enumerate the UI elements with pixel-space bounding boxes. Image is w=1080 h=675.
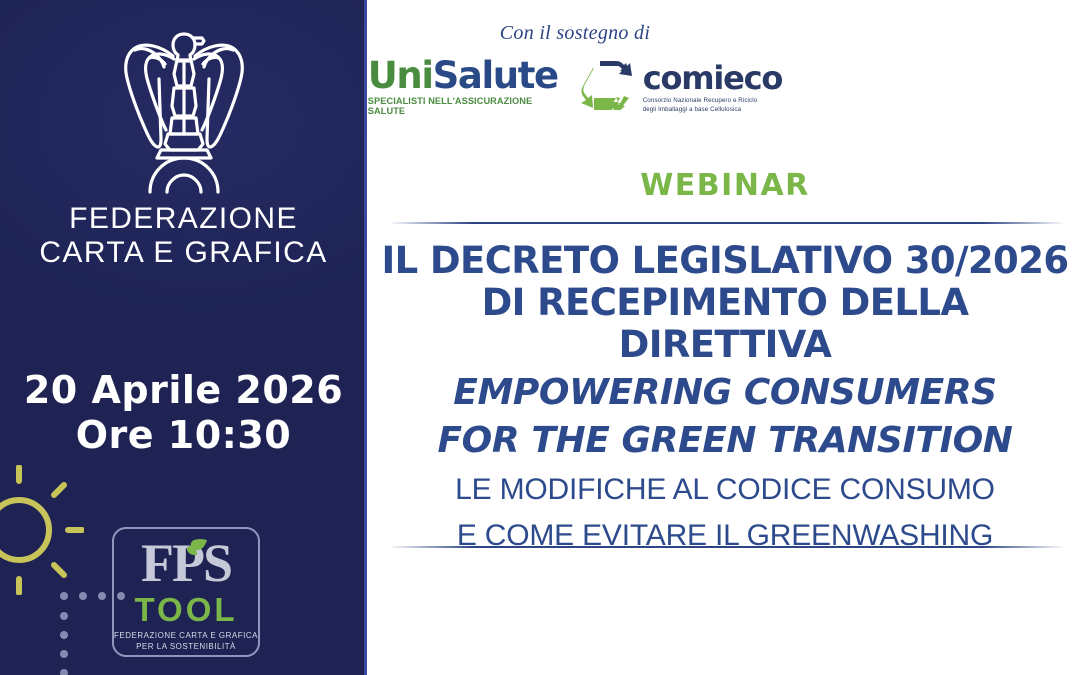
emphasis-line2: FOR THE GREEN TRANSITION [370,420,1080,462]
left-brand-panel: FEDERAZIONE CARTA E GRAFICA 20 Aprile 20… [0,0,367,675]
title-block: IL DECRETO LEGISLATIVO 30/2026 DI RECEPI… [370,240,1080,554]
subtitle-line1: LE MODIFICHE AL CODICE CONSUMO [370,472,1080,508]
unisalute-word-part1: Uni [368,54,433,97]
divider-bottom [392,546,1062,548]
fps-tool-tagline: FEDERAZIONE CARTA E GRAFICA PER LA SOSTE… [114,631,258,653]
eagle-crest-icon [95,26,273,196]
subtitle-line2: E COME EVITARE IL GREENWASHING [370,518,1080,554]
federation-crest: FEDERAZIONE CARTA E GRAFICA [0,26,367,269]
comieco-subtitle-line1: Consorzio Nazionale Recupero e Riciclo [643,96,783,105]
comieco-subtitle: Consorzio Nazionale Recupero e Riciclo d… [643,96,783,115]
fps-tool-tagline-line1: FEDERAZIONE CARTA E GRAFICA [114,631,258,642]
event-time: Ore 10:30 [0,413,367,458]
webinar-badge: WEBINAR [370,168,1080,203]
fps-tool-tagline-line2: PER LA SOSTENIBILITÀ [114,642,258,653]
title-line2: DI RECEPIMENTO DELLA DIRETTIVA [370,282,1080,366]
unisalute-logo: UniSalute SPECIALISTI NELL'ASSICURAZIONE… [368,57,558,116]
leaf-icon [178,538,208,565]
dotted-line-icon-vertical [60,612,68,675]
comieco-text: comieco Consorzio Nazionale Recupero e R… [643,59,783,115]
support-logo-row: UniSalute SPECIALISTI NELL'ASSICURAZIONE… [370,57,780,116]
unisalute-word-part2: Salute [433,54,558,97]
event-date: 20 Aprile 2026 [0,368,367,413]
event-datetime: 20 Aprile 2026 Ore 10:30 [0,368,367,458]
main-content-panel: Con il sostegno di UniSalute SPECIALISTI… [370,0,1080,675]
support-kicker: Con il sostegno di [370,22,780,45]
fps-tool-word: TOOL [134,594,237,626]
federation-name-line1: FEDERAZIONE [39,202,327,236]
divider-top [392,222,1062,224]
comieco-wordmark: comieco [643,63,783,94]
federation-name: FEDERAZIONE CARTA E GRAFICA [39,202,327,269]
federation-name-line2: CARTA E GRAFICA [39,236,327,270]
comieco-logo: comieco Consorzio Nazionale Recupero e R… [580,58,783,115]
title-line1: IL DECRETO LEGISLATIVO 30/2026 [370,240,1080,282]
fps-tool-logo: FPS TOOL FEDERAZIONE CARTA E GRAFICA PER… [112,527,260,657]
emphasis-line1: EMPOWERING CONSUMERS [370,372,1080,414]
comieco-subtitle-line2: degli Imballaggi a base Cellulosica [643,105,783,114]
unisalute-wordmark: UniSalute [368,57,558,95]
sun-icon [0,465,84,595]
fps-letters-mark: FPS [126,536,246,596]
webinar-poster: FEDERAZIONE CARTA E GRAFICA 20 Aprile 20… [0,0,1080,675]
recycling-arrows-icon [580,58,636,115]
unisalute-tagline: SPECIALISTI NELL'ASSICURAZIONE SALUTE [368,96,558,116]
